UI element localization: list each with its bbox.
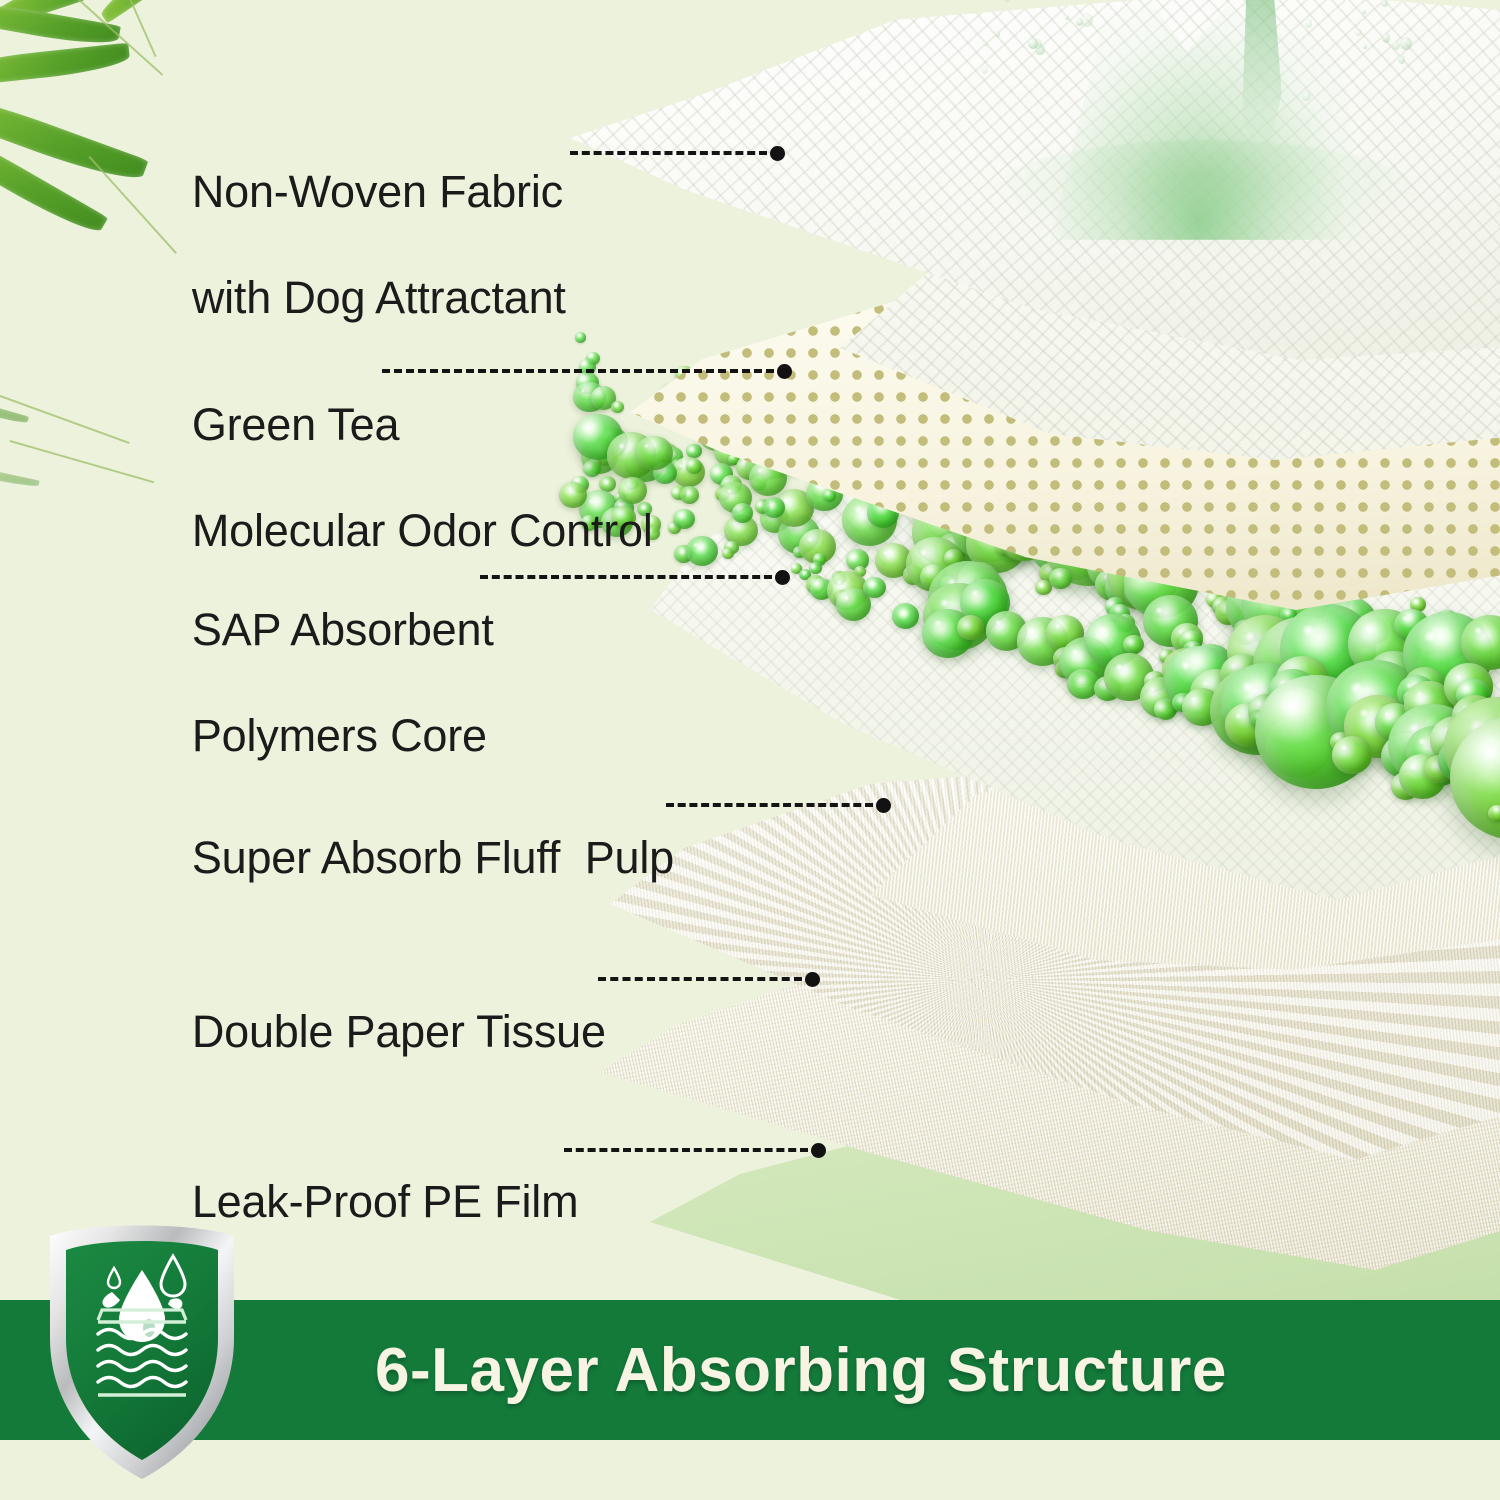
bamboo-leaf-icon bbox=[0, 384, 29, 427]
callout-line-1: SAP Absorbent bbox=[192, 604, 494, 655]
sap-gel-bead bbox=[715, 487, 730, 501]
sap-gel-bead bbox=[720, 480, 732, 491]
bamboo-stem bbox=[73, 0, 163, 75]
layer-stack-illustration bbox=[540, 0, 1500, 1300]
leader-endpoint-dot bbox=[777, 364, 792, 379]
leader-endpoint-dot bbox=[876, 798, 891, 813]
sap-gel-bead bbox=[673, 509, 695, 529]
sap-gel-bead bbox=[668, 521, 682, 534]
callout-label-text: Non-Woven Fabric with Dog Attractant bbox=[118, 112, 566, 377]
shield-svg bbox=[42, 1218, 242, 1483]
callout-label-text: Super Absorb Fluff Pulp bbox=[118, 778, 674, 937]
callout-line-2: Polymers Core bbox=[192, 710, 487, 761]
callout-label-text: SAP Absorbent Polymers Core bbox=[118, 550, 494, 815]
banner-title: 6-Layer Absorbing Structure bbox=[375, 1320, 1375, 1420]
bamboo-leaf-icon bbox=[0, 43, 131, 88]
sap-gel-bead bbox=[721, 475, 742, 495]
sap-gel-bead bbox=[719, 482, 752, 513]
layer-non-woven-fabric bbox=[570, 0, 1500, 360]
sap-gel-bead bbox=[655, 443, 678, 465]
callout-line-2: Molecular Odor Control bbox=[192, 505, 653, 556]
sap-gel-bead bbox=[672, 457, 704, 487]
sap-gel-bead bbox=[686, 444, 701, 458]
water-absorption-shield-icon bbox=[42, 1218, 242, 1483]
infographic-canvas: Non-Woven Fabric with Dog Attractant Gre… bbox=[0, 0, 1500, 1500]
sap-gel-bead bbox=[755, 499, 770, 513]
sap-gel-bead bbox=[575, 332, 587, 343]
leader-dashes bbox=[564, 1148, 808, 1152]
callout-line-1: Double Paper Tissue bbox=[192, 1006, 606, 1057]
sap-gel-bead bbox=[671, 459, 684, 471]
sap-gel-bead bbox=[671, 485, 687, 500]
callout-fluff-pulp: Super Absorb Fluff Pulp bbox=[118, 778, 674, 937]
bamboo-stem bbox=[0, 384, 130, 444]
callout-line-1: Super Absorb Fluff Pulp bbox=[192, 832, 674, 883]
callout-label-text: Double Paper Tissue bbox=[118, 952, 606, 1111]
callout-paper-tissue: Double Paper Tissue bbox=[118, 952, 606, 1111]
sap-gel-bead bbox=[653, 462, 677, 484]
bamboo-leaf-icon bbox=[0, 118, 108, 241]
leader-endpoint-dot bbox=[805, 972, 820, 987]
leader-endpoint-dot bbox=[770, 146, 785, 161]
sap-gel-bead-specular bbox=[732, 522, 737, 526]
leader-line-green-tea bbox=[382, 366, 792, 376]
leader-dashes bbox=[480, 575, 772, 579]
sap-gel-bead-specular bbox=[693, 543, 698, 547]
leader-endpoint-dot bbox=[775, 570, 790, 585]
callout-non-woven-fabric: Non-Woven Fabric with Dog Attractant bbox=[118, 112, 566, 377]
sap-gel-bead-specular bbox=[727, 489, 732, 493]
water-droplet-particle bbox=[1004, 0, 1010, 2]
leader-line-paper-tissue bbox=[598, 974, 820, 984]
callout-line-1: Non-Woven Fabric bbox=[192, 166, 563, 217]
leader-endpoint-dot bbox=[811, 1143, 826, 1158]
callout-line-2: with Dog Attractant bbox=[192, 272, 566, 323]
sap-gel-bead bbox=[751, 476, 766, 490]
sap-gel-bead-specular bbox=[783, 498, 789, 503]
leader-dashes bbox=[570, 151, 767, 155]
sap-gel-bead bbox=[710, 463, 733, 484]
bamboo-leaf-icon bbox=[0, 456, 40, 490]
leader-line-non-woven-fabric bbox=[570, 148, 785, 158]
sap-gel-bead bbox=[732, 503, 753, 523]
leader-line-pe-film bbox=[564, 1145, 826, 1155]
leader-dashes bbox=[598, 977, 802, 981]
leader-line-fluff-pulp bbox=[666, 800, 891, 810]
sap-gel-bead bbox=[686, 459, 702, 474]
sap-gel-bead bbox=[680, 486, 699, 504]
callout-sap-core: SAP Absorbent Polymers Core bbox=[118, 550, 494, 815]
bamboo-leaf-icon bbox=[0, 0, 121, 50]
leader-line-sap-core bbox=[480, 572, 790, 582]
callout-line-1: Green Tea bbox=[192, 399, 400, 450]
sap-gel-bead bbox=[664, 447, 683, 465]
callout-line-1: Leak-Proof PE Film bbox=[192, 1176, 579, 1227]
bamboo-stem bbox=[119, 0, 157, 57]
sap-gel-bead-specular bbox=[757, 468, 763, 473]
leader-dashes bbox=[382, 369, 774, 373]
leader-dashes bbox=[666, 803, 873, 807]
sap-gel-bead-specular bbox=[679, 464, 684, 468]
bamboo-leaf-icon bbox=[0, 0, 140, 29]
bamboo-leaf-icon bbox=[96, 0, 223, 23]
